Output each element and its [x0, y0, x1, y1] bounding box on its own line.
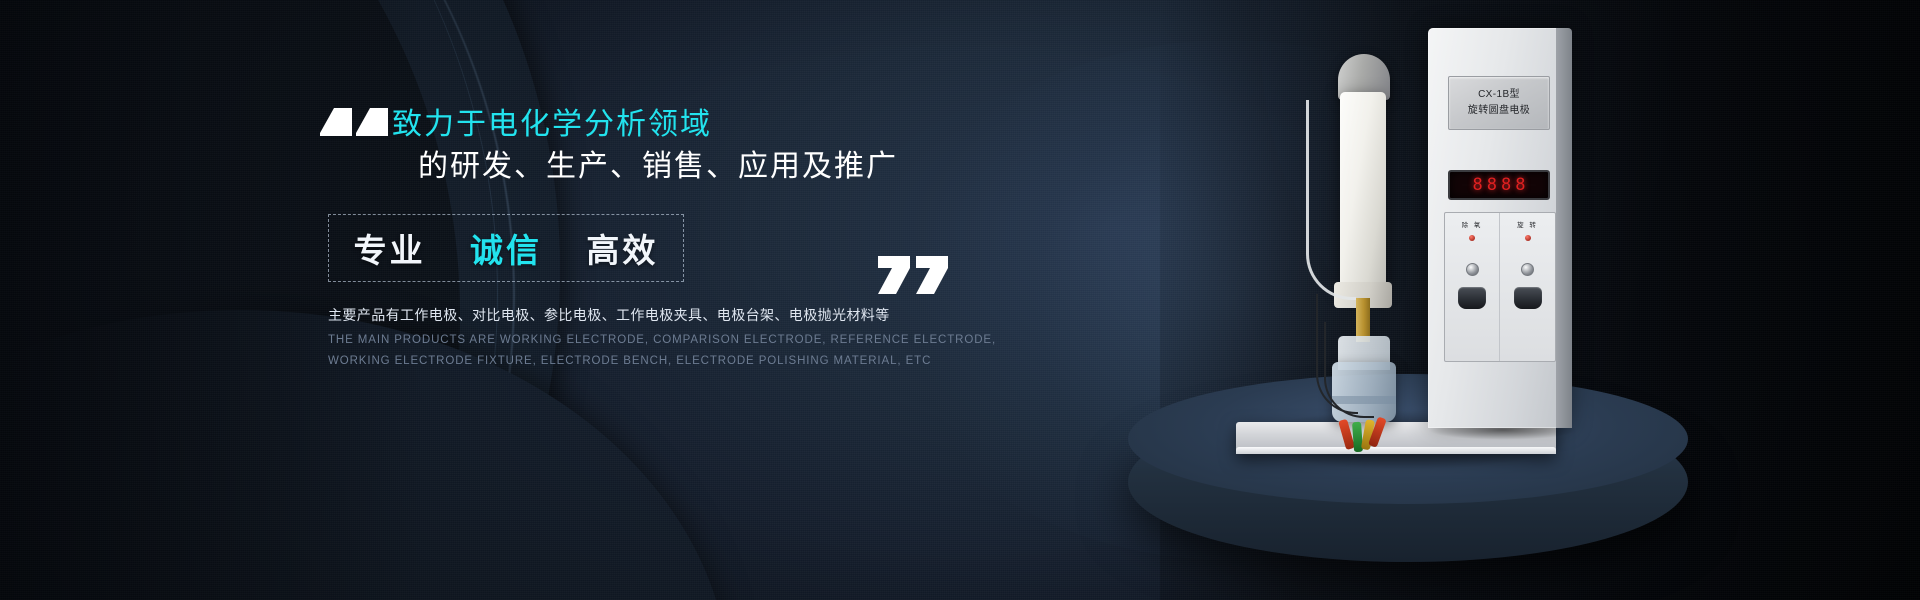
led-digit-3: 8: [1501, 177, 1511, 194]
toggle-switch-deoxygen[interactable]: [1466, 263, 1479, 276]
led-digit-1: 8: [1473, 177, 1483, 194]
indicator-lamp-icon-deoxygen: [1469, 235, 1475, 241]
led-digit-2: 8: [1487, 177, 1497, 194]
control-column-deoxygen: 除 氧: [1445, 213, 1500, 361]
description-english: THE MAIN PRODUCTS ARE WORKING ELECTRODE,…: [328, 330, 996, 372]
gas-tube: [1306, 100, 1356, 300]
headline: 致力于电化学分析领域 的研发、生产、销售、应用及推广: [392, 104, 1012, 188]
headline-line-1: 致力于电化学分析领域: [392, 104, 1012, 146]
product-banner: 致力于电化学分析领域 的研发、生产、销售、应用及推广 专业 诚信 高效 主要产品…: [0, 0, 1920, 600]
quote-close-icon: [878, 256, 950, 298]
product-photo: CX-1B型 旋转圆盘电极 8 8 8 8 除 氧 旋 转: [1110, 0, 1830, 600]
nameplate-model: CX-1B型: [1478, 89, 1520, 101]
headline-line-2: 的研发、生产、销售、应用及推广: [418, 146, 1012, 188]
slogan-word-2: 诚信: [470, 232, 542, 269]
indicator-lamp-icon-rotation: [1525, 235, 1531, 241]
control-label-deoxygen: 除 氧: [1462, 219, 1483, 229]
slogan: 专业 诚信 高效: [354, 224, 659, 272]
nameplate-name: 旋转圆盘电极: [1468, 105, 1530, 117]
led-display: 8 8 8 8: [1448, 170, 1550, 200]
rotary-knob-deoxygen[interactable]: [1458, 287, 1486, 309]
instrument-base-edge: [1236, 447, 1556, 454]
toggle-switch-rotation[interactable]: [1521, 263, 1534, 276]
description-chinese: 主要产品有工作电极、对比电极、参比电极、工作电极夹具、电极台架、电极抛光材料等: [328, 304, 890, 326]
slogan-word-3: 高效: [586, 232, 658, 269]
description-english-line-2: WORKING ELECTRODE FIXTURE, ELECTRODE BEN…: [328, 351, 996, 372]
instrument-tower-side: [1556, 28, 1572, 428]
control-column-rotation: 旋 转: [1500, 213, 1555, 361]
control-panel: 除 氧 旋 转: [1444, 212, 1556, 362]
slogan-box: 专业 诚信 高效: [328, 214, 684, 282]
rotary-knob-rotation[interactable]: [1514, 287, 1542, 309]
led-digit-4: 8: [1515, 177, 1525, 194]
quote-open-icon: [320, 108, 392, 148]
instrument-nameplate: CX-1B型 旋转圆盘电极: [1448, 76, 1550, 130]
control-label-rotation: 旋 转: [1517, 219, 1538, 229]
description-english-line-1: THE MAIN PRODUCTS ARE WORKING ELECTRODE,…: [328, 330, 996, 351]
slogan-word-1: 专业: [354, 232, 426, 269]
